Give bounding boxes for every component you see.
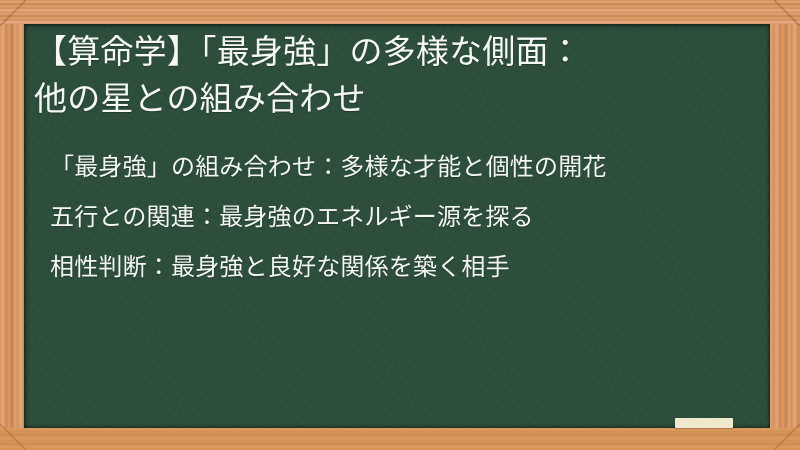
slide-content: 【算命学】「最身強」の多様な側面： 他の星との組み合わせ 「最身強」の組み合わせ…: [24, 24, 770, 428]
chalk-stick-icon: [675, 418, 733, 428]
slide-bullet-item-1: 「最身強」の組み合わせ：多様な才能と個性の開花: [50, 150, 740, 184]
slide-title: 【算命学】「最身強」の多様な側面： 他の星との組み合わせ: [34, 28, 734, 122]
slide-bullet-item-2: 五行との関連：最身強のエネルギー源を探る: [50, 200, 740, 234]
slide-bullet-item-3: 相性判断：最身強と良好な関係を築く相手: [50, 250, 740, 284]
chalkboard-surface: 【算命学】「最身強」の多様な側面： 他の星との組み合わせ 「最身強」の組み合わせ…: [24, 24, 770, 428]
wooden-frame-bottom: [0, 428, 800, 450]
wooden-frame-top: [0, 0, 800, 24]
slide-bullet-list: 「最身強」の組み合わせ：多様な才能と個性の開花 五行との関連：最身強のエネルギー…: [50, 150, 740, 284]
chalkboard-slide: 【算命学】「最身強」の多様な側面： 他の星との組み合わせ 「最身強」の組み合わせ…: [0, 0, 800, 450]
